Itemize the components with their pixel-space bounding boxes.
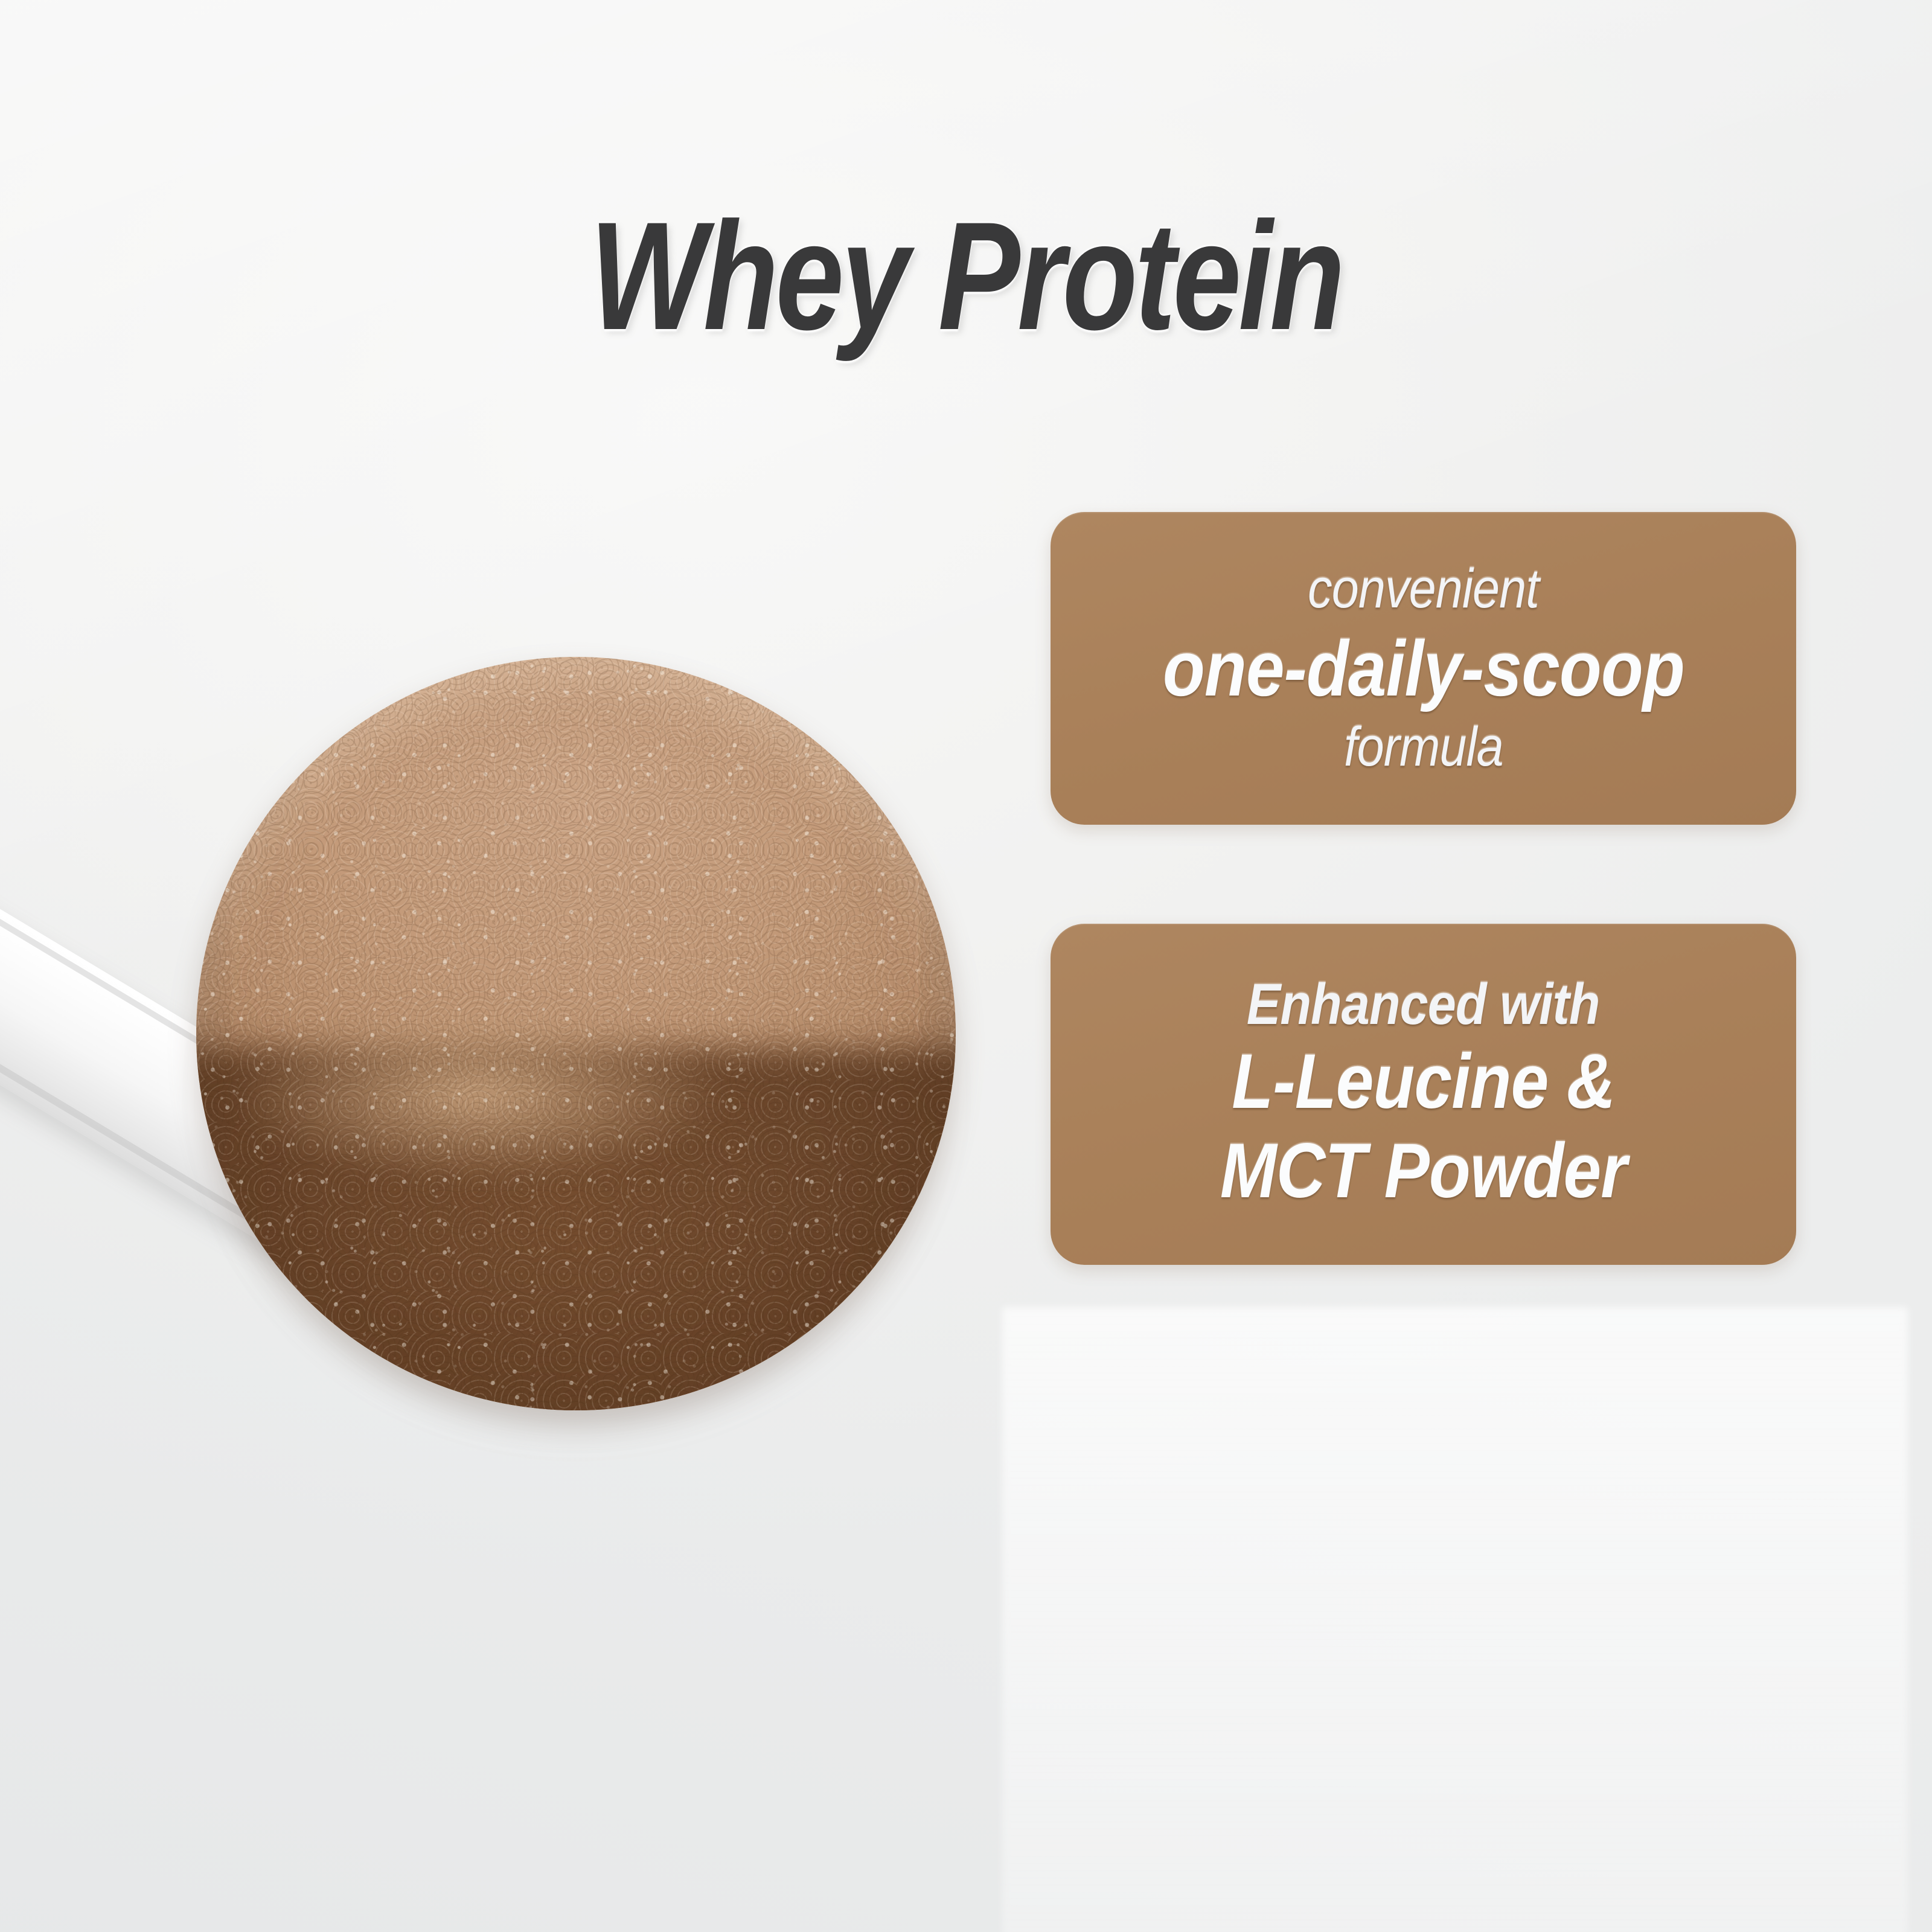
convenience-badge[interactable]: convenient one-daily-scoop formula [1051,512,1796,825]
page-title: Whey Protein [193,199,1739,353]
background-light-panel [1002,1307,1908,1932]
powder-speckle-texture [196,657,956,1410]
ingredients-badge[interactable]: Enhanced with L-Leucine & MCT Powder [1051,924,1796,1265]
badge-2-line-3: MCT Powder [1220,1132,1627,1211]
badge-2-line-1: Enhanced with [1247,975,1600,1034]
product-marketing-image: Whey Protein convenient one-daily-scoop … [0,0,1932,1932]
powder-grain-texture [196,657,956,1410]
powder-dark-region [196,1049,956,1410]
scoop-drop-shadow [190,682,963,1437]
protein-powder-disc [196,657,956,1410]
badge-1-line-3: formula [1344,719,1503,776]
scoop-handle [0,768,386,1270]
powder-highlight-ridge [211,1003,804,1185]
badge-1-line-2: one-daily-scoop [1163,629,1684,709]
badge-2-line-2: L-Leucine & [1232,1043,1615,1122]
badge-1-line-1: convenient [1308,561,1539,618]
